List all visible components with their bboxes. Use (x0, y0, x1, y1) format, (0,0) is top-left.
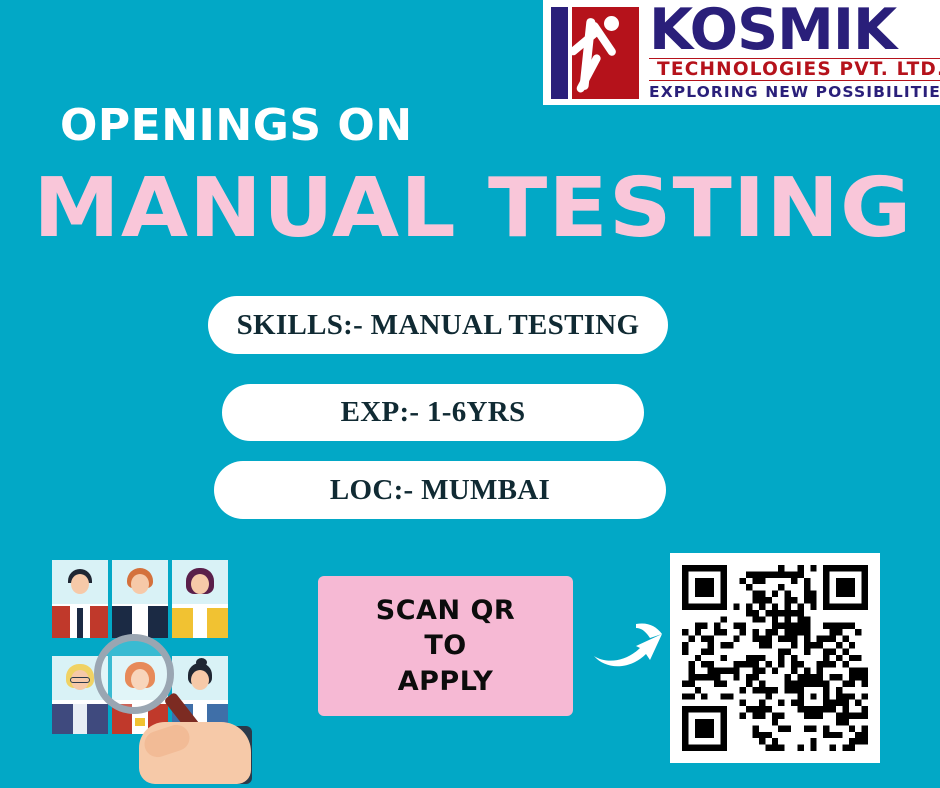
candidate-head (191, 574, 209, 594)
candidate-accent (135, 718, 145, 726)
candidate-head (191, 670, 209, 690)
candidate-head (71, 574, 89, 594)
candidate-card (172, 560, 228, 638)
candidate-tie (77, 608, 83, 638)
logo-tagline-primary: TECHNOLOGIES PVT. LTD. (649, 58, 940, 81)
logo-company-name: KOSMIK (649, 4, 940, 56)
kicker-text: OPENINGS ON (60, 100, 413, 151)
scan-qr-cta: SCAN QR TO APPLY (318, 576, 573, 716)
company-logo: KOSMIK TECHNOLOGIES PVT. LTD. EXPLORING … (543, 0, 940, 105)
logo-tagline-secondary: EXPLORING NEW POSSIBILITIES (649, 83, 940, 101)
qr-canvas[interactable] (682, 565, 868, 751)
logo-navy-bar (551, 7, 568, 99)
curved-arrow-icon (592, 604, 674, 668)
candidate-bun (196, 658, 207, 667)
detail-pill-skills: SKILLS:- MANUAL TESTING (208, 296, 668, 354)
candidate-glasses (70, 677, 90, 683)
cta-line-3: APPLY (398, 666, 494, 697)
qr-code[interactable] (670, 553, 880, 763)
candidate-shirt (73, 704, 87, 734)
logo-red-square (572, 7, 639, 99)
candidate-search-illustration (34, 546, 274, 784)
kosmik-logo-mark-icon (551, 7, 639, 99)
magnifier-lens (94, 634, 174, 714)
job-opening-poster: KOSMIK TECHNOLOGIES PVT. LTD. EXPLORING … (0, 0, 940, 788)
logo-figure-head (604, 16, 619, 31)
logo-wordmark: KOSMIK TECHNOLOGIES PVT. LTD. EXPLORING … (639, 4, 940, 100)
cta-line-1: SCAN QR (376, 595, 515, 626)
detail-pill-experience: EXP:- 1-6YRS (222, 384, 644, 441)
page-title: MANUAL TESTING (33, 168, 906, 250)
cta-line-2: TO (424, 630, 466, 661)
candidate-card (52, 560, 108, 638)
candidate-card (112, 560, 168, 638)
detail-pill-location: LOC:- MUMBAI (214, 461, 666, 519)
candidate-shirt (193, 608, 207, 638)
candidate-head (131, 574, 149, 594)
